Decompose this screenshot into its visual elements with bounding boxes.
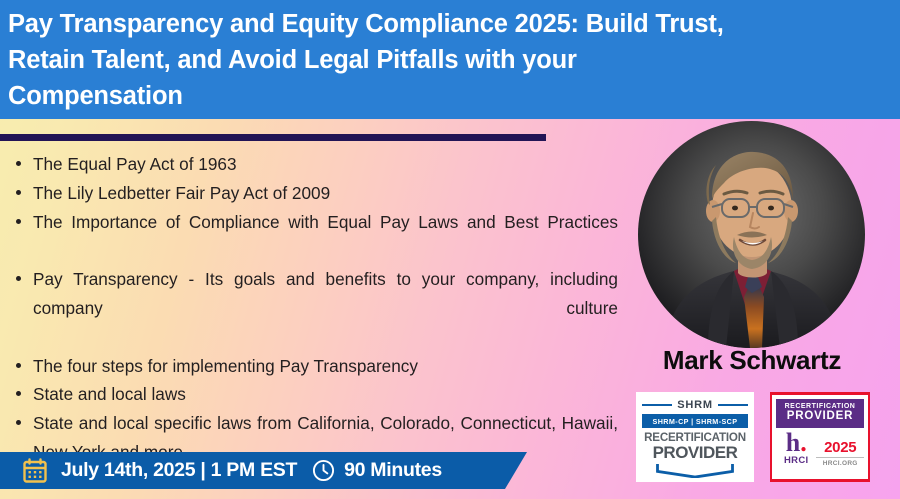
shrm-rule-left-icon xyxy=(642,404,672,406)
bullet-dot-icon xyxy=(16,420,21,425)
hrci-year-label: 2025 xyxy=(816,440,864,455)
speaker-photo xyxy=(638,121,865,348)
bullet-dot-icon xyxy=(16,391,21,396)
list-item-label: Pay Transparency - Its goals and benefit… xyxy=(33,265,618,351)
hrci-badge: RECERTIFICATION PROVIDER h. HRCI 2025 HR… xyxy=(770,392,870,482)
calendar-icon xyxy=(22,458,48,484)
list-item: State and local laws xyxy=(0,380,630,409)
bullet-dot-icon xyxy=(16,276,21,281)
shrm-shield-icon xyxy=(652,463,738,478)
hrci-url-label: HRCI.ORG xyxy=(816,457,864,467)
bullet-dot-icon xyxy=(16,363,21,368)
shrm-badge: SHRM SHRM-CP | SHRM-SCP RECERTIFICATION … xyxy=(636,392,754,482)
event-duration-label: 90 Minutes xyxy=(344,459,442,482)
agenda-list: The Equal Pay Act of 1963 The Lily Ledbe… xyxy=(0,150,630,467)
event-date-label: July 14th, 2025 | 1 PM EST xyxy=(61,459,297,482)
list-item-label: State and local laws xyxy=(33,384,186,404)
list-item-label: The Importance of Compliance with Equal … xyxy=(33,208,618,266)
list-item-label: The Equal Pay Act of 1963 xyxy=(33,154,237,174)
hrci-logo-letter: h xyxy=(786,428,800,457)
list-item-label: The four steps for implementing Pay Tran… xyxy=(33,356,418,376)
hrci-org-label: HRCI xyxy=(776,455,816,466)
list-item: The Equal Pay Act of 1963 xyxy=(0,150,630,179)
divider-rule xyxy=(0,134,546,141)
list-item: The Importance of Compliance with Equal … xyxy=(0,208,630,266)
hrci-body: h. HRCI 2025 HRCI.ORG xyxy=(776,428,864,475)
portrait-illustration xyxy=(638,121,865,348)
shrm-credentials-label: SHRM-CP | SHRM-SCP xyxy=(642,414,748,428)
hrci-logo-icon: h. xyxy=(776,431,816,455)
clock-icon xyxy=(312,459,335,482)
hrci-logo-dot-icon: . xyxy=(800,428,807,457)
certification-badges: SHRM SHRM-CP | SHRM-SCP RECERTIFICATION … xyxy=(636,391,876,483)
bullet-dot-icon xyxy=(16,219,21,224)
event-details-banner: July 14th, 2025 | 1 PM EST 90 Minutes xyxy=(0,452,527,489)
list-item-label: The Lily Ledbetter Fair Pay Act of 2009 xyxy=(33,183,330,203)
header-banner: Pay Transparency and Equity Compliance 2… xyxy=(0,0,900,119)
hrci-year-block: 2025 HRCI.ORG xyxy=(816,431,864,467)
shrm-rule-right-icon xyxy=(718,404,748,406)
hrci-logo-block: h. HRCI xyxy=(776,431,816,466)
hrci-header: RECERTIFICATION PROVIDER xyxy=(776,399,864,428)
shrm-provider-label: PROVIDER xyxy=(653,444,738,462)
page-title: Pay Transparency and Equity Compliance 2… xyxy=(8,6,878,114)
hrci-recertification-label: RECERTIFICATION xyxy=(778,403,862,410)
bullet-dot-icon xyxy=(16,190,21,195)
hrci-provider-label: PROVIDER xyxy=(778,410,862,423)
bullet-dot-icon xyxy=(16,161,21,166)
list-item: Pay Transparency - Its goals and benefit… xyxy=(0,265,630,351)
list-item: The Lily Ledbetter Fair Pay Act of 2009 xyxy=(0,179,630,208)
shrm-brand-label: SHRM xyxy=(677,399,713,411)
speaker-name: Mark Schwartz xyxy=(618,345,886,376)
shrm-brand-row: SHRM xyxy=(642,399,748,411)
list-item: The four steps for implementing Pay Tran… xyxy=(0,352,630,381)
webinar-promo-poster: Pay Transparency and Equity Compliance 2… xyxy=(0,0,900,499)
